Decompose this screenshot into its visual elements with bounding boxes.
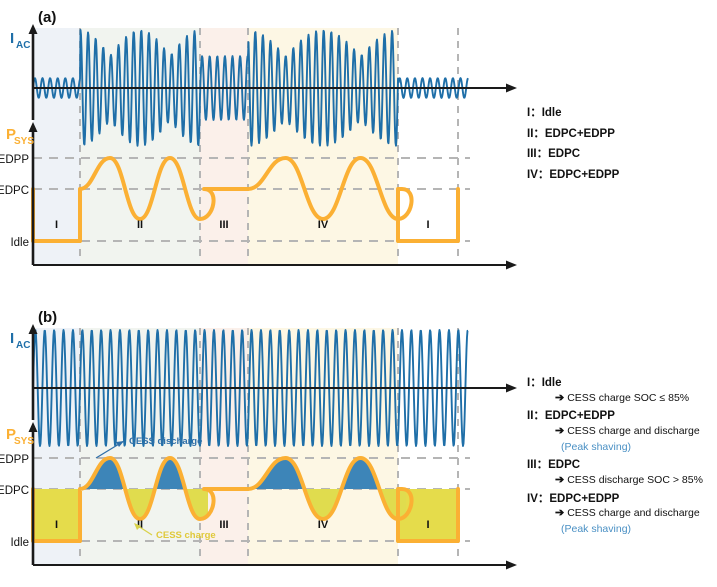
cess-discharge-label: CESS discharge <box>129 436 202 447</box>
legend-b-detail-text-0: CESS charge SOC ≤ 85% <box>567 392 689 404</box>
legend-b-mode-2: EDPC <box>548 459 580 471</box>
legend-a-roman-2: III <box>527 148 537 160</box>
legend-b-separator-3: ： <box>538 493 550 505</box>
legend-b-block-I: I：Idle➔CESS charge SOC ≤ 85% <box>527 378 717 405</box>
region-label-4: I <box>426 219 429 231</box>
legend-b-item-II: II：EDPC+EDPP <box>527 411 717 423</box>
level-label-idle: Idle <box>10 237 29 249</box>
legend-b-detail-text-2: CESS discharge SOC > 85% <box>567 474 703 486</box>
legend-b-detail-text-3: CESS charge and discharge <box>567 507 700 519</box>
region-label-2: III <box>219 519 228 531</box>
panel-b-plot: IACPSYSEDPPEDPCIdleIIIIIIIVI(b)CESS disc… <box>0 300 520 587</box>
legend-b-arrow-icon-2: ➔ <box>555 474 564 486</box>
legend-a-item-III: III：EDPC <box>527 149 717 161</box>
legend-b-detail-text-1: CESS charge and discharge <box>567 425 700 437</box>
ac-axis-arrow <box>506 84 517 93</box>
level-label-edpc: EDPC <box>0 485 29 497</box>
legend-b-arrow-icon-3: ➔ <box>555 507 564 519</box>
legend-b-item-IV: IV：EDPC+EDPP <box>527 494 717 506</box>
idle-fill-block-0 <box>33 489 80 541</box>
legend-a-roman-3: IV <box>527 169 538 181</box>
legend-b-mode-1: EDPC+EDPP <box>545 410 615 422</box>
region-label-2: III <box>219 219 228 231</box>
legend-b-detail-2: ➔CESS discharge SOC > 85% <box>555 474 717 488</box>
legend-b-mode-0: Idle <box>542 377 562 389</box>
legend-b-separator-0: ： <box>530 377 542 389</box>
level-label-edpp: EDPP <box>0 154 29 166</box>
iac-label-sub: AC <box>16 40 30 51</box>
legend-b-roman-3: IV <box>527 493 538 505</box>
legend-a-mode-2: EDPC <box>548 148 580 160</box>
legend-a-separator-3: ： <box>538 169 550 181</box>
panel-b: IACPSYSEDPPEDPCIdleIIIIIIIVI(b)CESS disc… <box>0 300 520 587</box>
legend-a-item-I: I：Idle <box>527 108 717 120</box>
level-label-edpp: EDPP <box>0 454 29 466</box>
legend-a-mode-1: EDPC+EDPP <box>545 128 615 140</box>
legend-b-detail-1: ➔CESS charge and discharge <box>555 425 717 439</box>
legend-a-separator-1: ： <box>533 128 545 140</box>
region-label-3: IV <box>318 519 329 531</box>
legend-b-block-IV: IV：EDPC+EDPP➔CESS charge and discharge(P… <box>527 494 717 537</box>
psys-label-sub: SYS <box>14 136 34 147</box>
legend-b-separator-2: ： <box>537 459 549 471</box>
legend-b-detail-0: ➔CESS charge SOC ≤ 85% <box>555 392 717 406</box>
psys-axis-arrow <box>506 561 517 570</box>
region-label-0: I <box>55 519 58 531</box>
iac-label-main: I <box>10 330 14 347</box>
panel-b-label: (b) <box>38 309 57 326</box>
region-label-1: II <box>137 219 143 231</box>
iac-label-main: I <box>10 30 14 47</box>
legend-b-detail-3: ➔CESS charge and discharge <box>555 507 717 521</box>
panel-a-label: (a) <box>38 9 56 26</box>
legend-b-separator-1: ： <box>533 410 545 422</box>
legend-b-mode-3: EDPC+EDPP <box>549 493 619 505</box>
iac-axis-label: IAC <box>10 30 30 51</box>
cess-charge-label: CESS charge <box>156 530 216 541</box>
legend-b-block-II: II：EDPC+EDPP➔CESS charge and discharge(P… <box>527 411 717 454</box>
legend-a-mode-0: Idle <box>542 107 562 119</box>
legend-b-block-III: III：EDPC➔CESS discharge SOC > 85% <box>527 460 717 487</box>
legend-panel-b: I：Idle➔CESS charge SOC ≤ 85%II：EDPC+EDPP… <box>527 378 717 542</box>
legend-b-arrow-icon-1: ➔ <box>555 425 564 437</box>
legend-a-separator-0: ： <box>530 107 542 119</box>
panel-a: IACPSYSEDPPEDPCIdleIIIIIIIVI(a) <box>0 0 520 287</box>
legend-a-item-IV: IV：EDPC+EDPP <box>527 170 717 182</box>
panel-a-plot: IACPSYSEDPPEDPCIdleIIIIIIIVI(a) <box>0 0 520 287</box>
legend-b-note-1: (Peak shaving) <box>561 441 717 454</box>
legend-a-separator-2: ： <box>537 148 549 160</box>
legend-b-item-I: I：Idle <box>527 378 717 390</box>
legend-a-item-II: II：EDPC+EDPP <box>527 129 717 141</box>
legend-b-item-III: III：EDPC <box>527 460 717 472</box>
legend-b-roman-2: III <box>527 459 537 471</box>
legend-a-mode-3: EDPC+EDPP <box>549 169 619 181</box>
legend-b-note-3: (Peak shaving) <box>561 523 717 536</box>
psys-label-sub: SYS <box>14 436 34 447</box>
ac-axis-arrow <box>506 384 517 393</box>
psys-axis-arrow <box>506 261 517 270</box>
iac-axis-label: IAC <box>10 330 30 351</box>
figure-root: IACPSYSEDPPEDPCIdleIIIIIIIVI(a) IACPSYSE… <box>0 0 717 587</box>
level-label-idle: Idle <box>10 537 29 549</box>
legend-b-arrow-icon-0: ➔ <box>555 392 564 404</box>
iac-label-sub: AC <box>16 340 30 351</box>
region-label-4: I <box>426 519 429 531</box>
level-label-edpc: EDPC <box>0 185 29 197</box>
region-label-3: IV <box>318 219 329 231</box>
region-label-0: I <box>55 219 58 231</box>
legend-panel-a: I：IdleII：EDPC+EDPPIII：EDPCIV：EDPC+EDPP <box>527 108 717 191</box>
